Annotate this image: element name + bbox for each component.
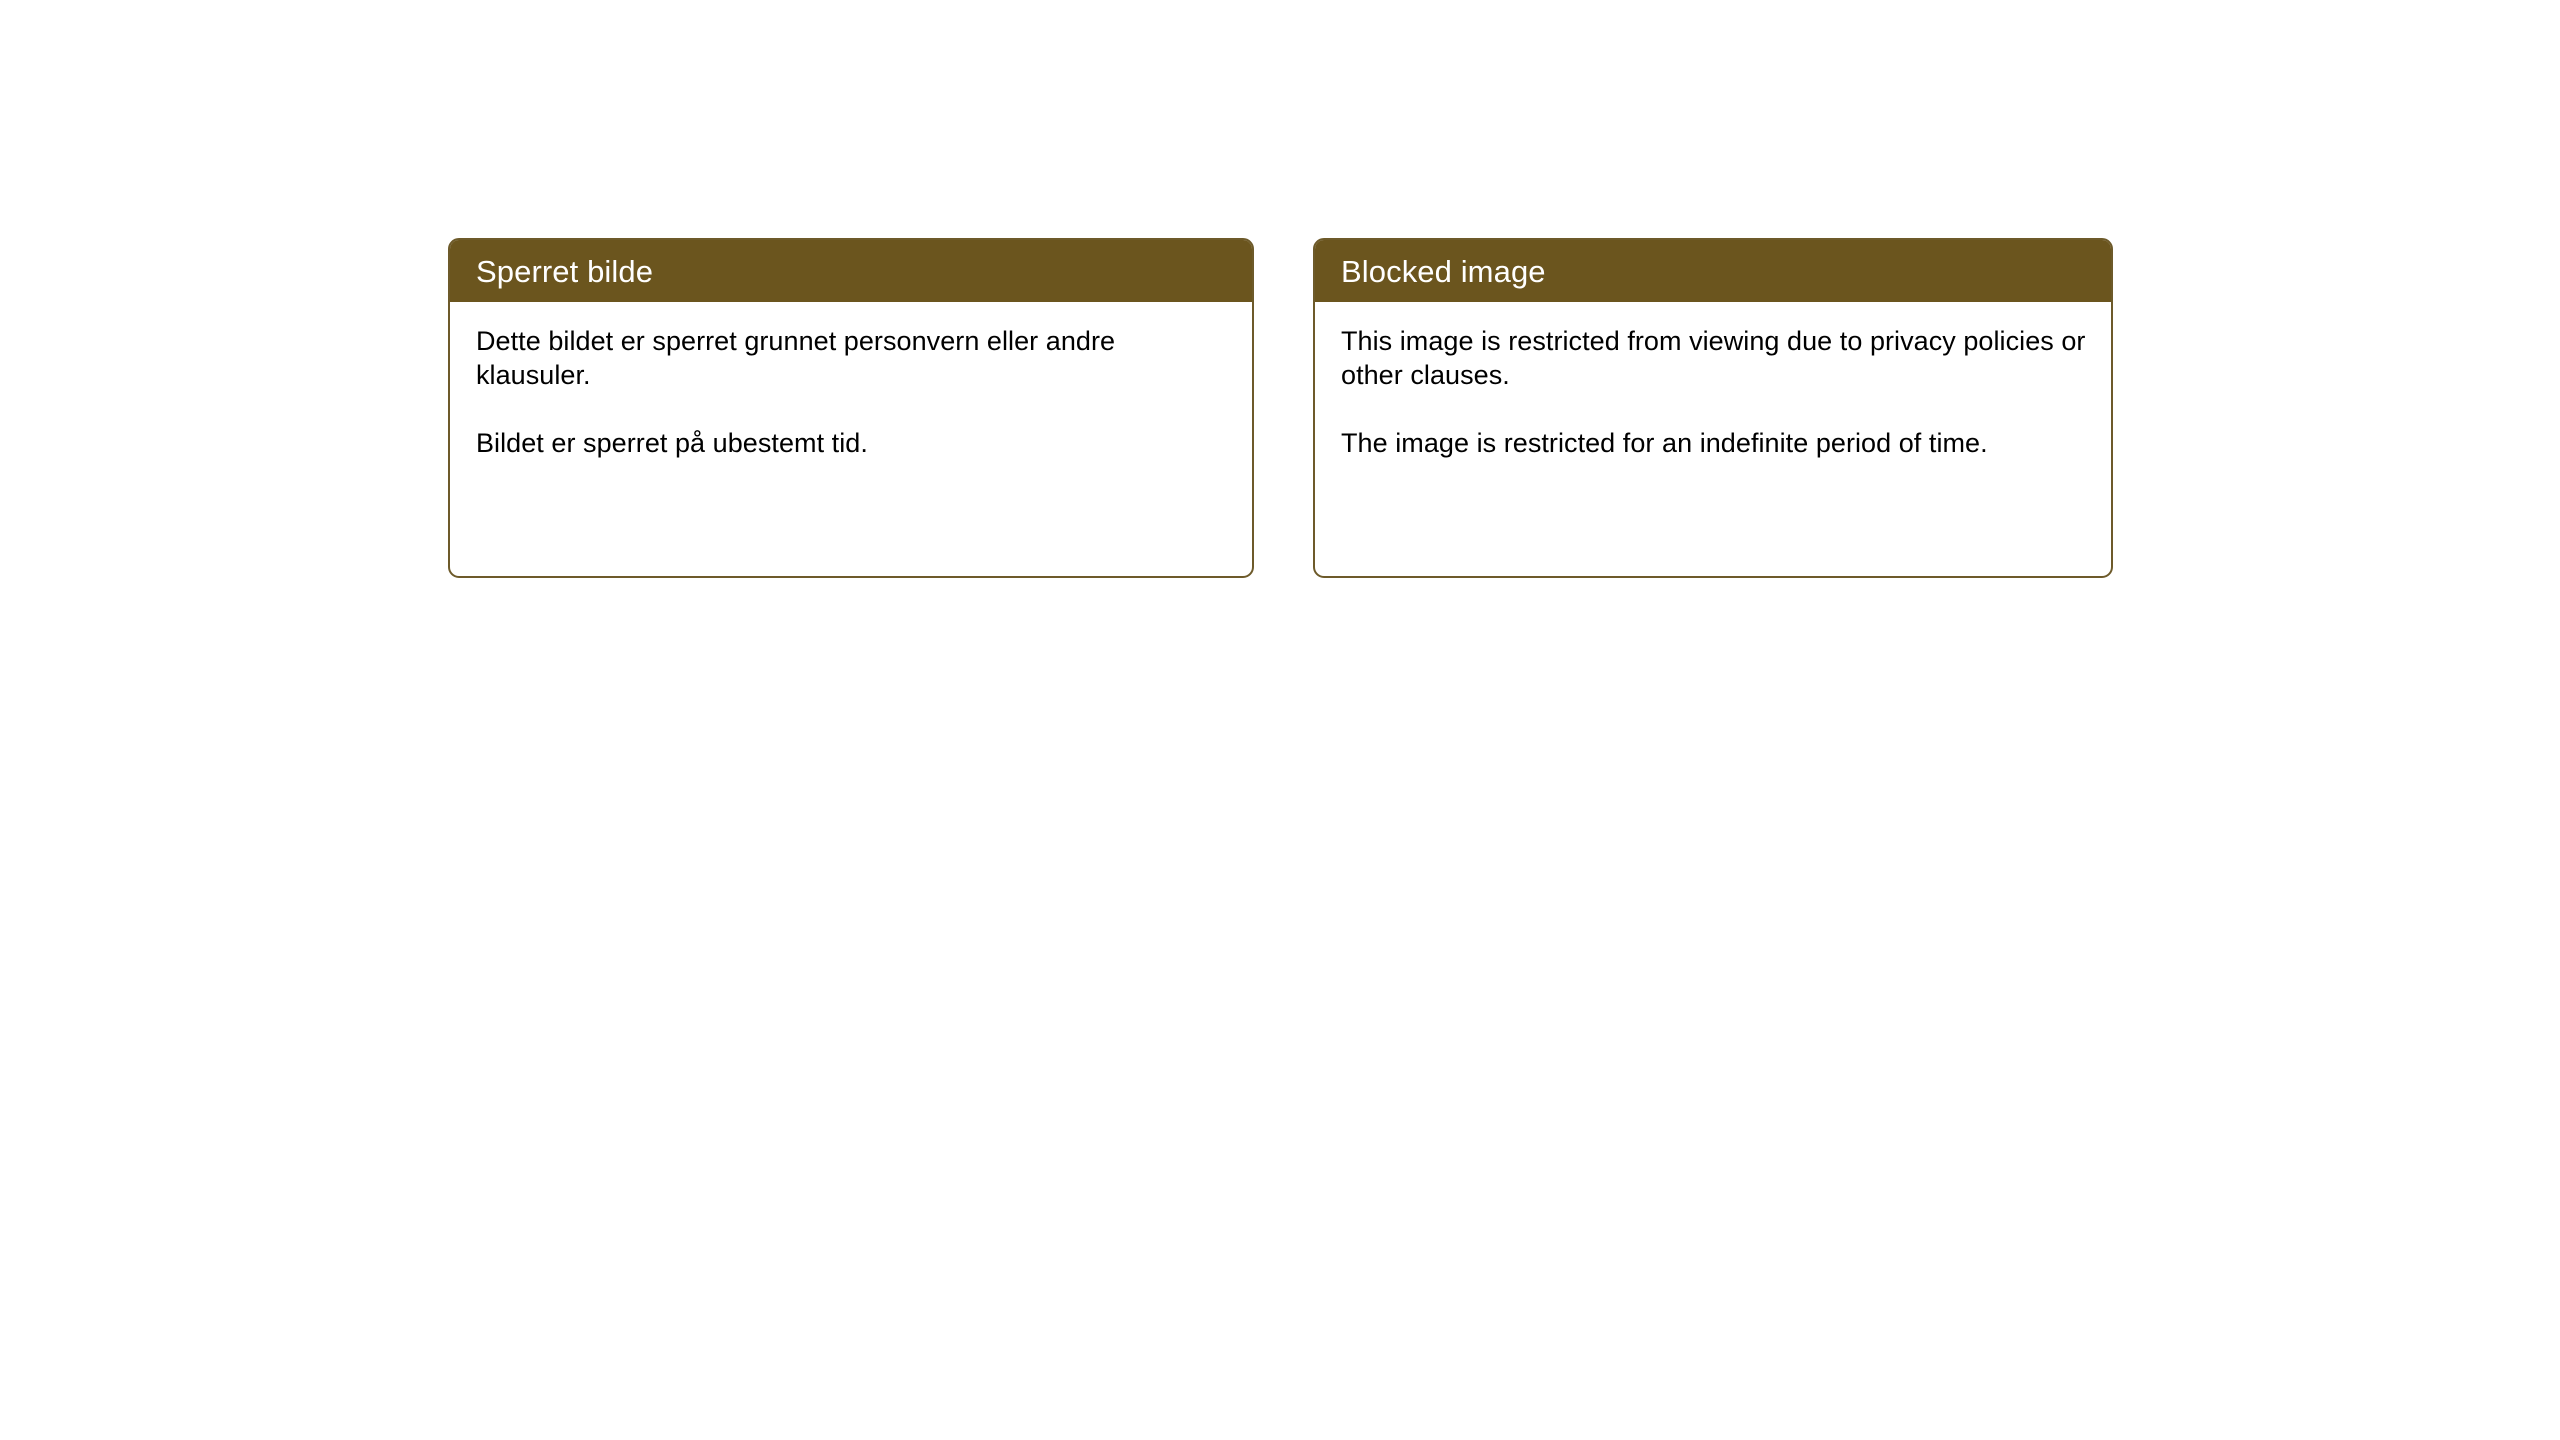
page-canvas: Sperret bilde Dette bildet er sperret gr… — [0, 0, 2560, 1440]
card-paragraph-primary-en: This image is restricted from viewing du… — [1341, 324, 2087, 392]
card-header-no: Sperret bilde — [450, 240, 1252, 302]
paragraph-spacer-en — [1341, 392, 2087, 426]
card-paragraph-secondary-no: Bildet er sperret på ubestemt tid. — [476, 426, 1228, 460]
blocked-image-notice-card-no: Sperret bilde Dette bildet er sperret gr… — [448, 238, 1254, 578]
card-body-no: Dette bildet er sperret grunnet personve… — [450, 302, 1252, 460]
card-title-en: Blocked image — [1341, 256, 1546, 287]
paragraph-spacer-no — [476, 392, 1228, 426]
card-paragraph-secondary-en: The image is restricted for an indefinit… — [1341, 426, 2087, 460]
card-paragraph-primary-no: Dette bildet er sperret grunnet personve… — [476, 324, 1228, 392]
blocked-image-notice-card-en: Blocked image This image is restricted f… — [1313, 238, 2113, 578]
card-header-en: Blocked image — [1315, 240, 2111, 302]
card-title-no: Sperret bilde — [476, 256, 653, 287]
card-body-en: This image is restricted from viewing du… — [1315, 302, 2111, 460]
